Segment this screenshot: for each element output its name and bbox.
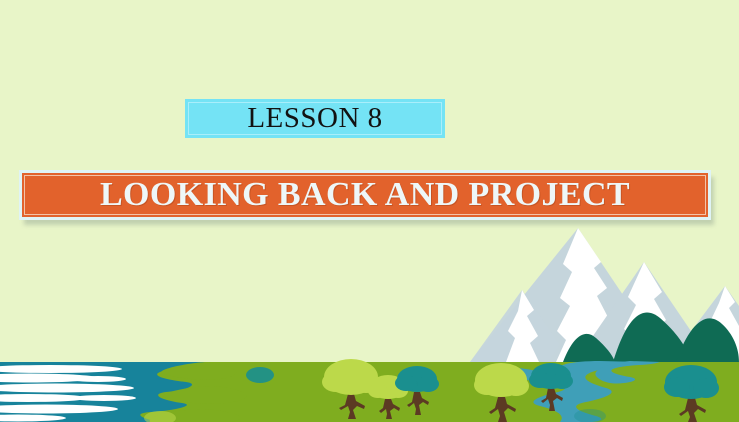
- water-body-left: [0, 362, 246, 422]
- wave-1: [0, 365, 122, 373]
- wave-8: [0, 415, 66, 422]
- dark-hill-range: [563, 312, 739, 362]
- tree-teal-3: [664, 365, 719, 422]
- wave-3: [70, 376, 126, 382]
- tree-canopy-lobe-a: [368, 384, 388, 398]
- slide-canvas: LESSON 8 LOOKING BACK AND PROJECT: [0, 0, 739, 422]
- tree-canopy: [475, 363, 527, 397]
- tree-canopy: [324, 359, 378, 395]
- tree-teal-2: [529, 363, 573, 411]
- wave-4: [0, 384, 134, 393]
- tree-canopy-lobe-b: [503, 376, 529, 396]
- wave-6: [72, 395, 136, 401]
- tree-canopy-lobe-a: [395, 375, 417, 391]
- tree-trunk: [489, 397, 516, 422]
- lesson-label-box: LESSON 8: [185, 99, 445, 138]
- tree-canopy: [665, 365, 717, 399]
- mountain-left-rock: [470, 228, 668, 362]
- bush-2: [144, 411, 176, 422]
- tree-canopy: [531, 363, 571, 389]
- water-inlet-3: [150, 409, 241, 422]
- hill-3: [563, 334, 615, 362]
- tree-trunk: [679, 398, 706, 422]
- tree-canopy-lobe-a: [664, 377, 690, 397]
- mountain-shoulder-left-snow: [506, 290, 539, 362]
- tree-group-center: [322, 359, 439, 419]
- mountain-mid-snow: [622, 262, 670, 362]
- tree-canopy-lobe-a: [474, 375, 500, 395]
- mountain-shoulder-left: [470, 290, 560, 362]
- tree-canopy-lobe-a: [322, 372, 350, 392]
- tree-trunk: [541, 388, 563, 411]
- winding-river: [498, 361, 660, 422]
- tree-trunk: [407, 392, 429, 415]
- tree-canopy: [397, 366, 437, 392]
- tree-canopy-lobe-b: [551, 373, 573, 389]
- tree-canopy-lobe-b: [388, 384, 408, 398]
- tree-group-far-right: [664, 365, 719, 422]
- mountain-left-snow: [556, 228, 618, 362]
- lesson-label-text: LESSON 8: [247, 104, 382, 133]
- green-ground: [0, 362, 739, 422]
- tree-group-right-center: [474, 363, 573, 422]
- tree-canopy-lobe-b: [352, 373, 380, 393]
- wave-2: [0, 374, 98, 383]
- tree-canopy-lobe-a: [529, 372, 551, 388]
- bush-1: [246, 367, 274, 383]
- tree-light-1: [322, 359, 380, 419]
- mountain-right-rock: [668, 286, 739, 362]
- water-waves: [0, 365, 136, 422]
- river-upper-branch: [595, 361, 660, 384]
- hill-1: [613, 312, 692, 362]
- mountain-mid-rock: [575, 262, 712, 362]
- title-banner-text: LOOKING BACK AND PROJECT: [100, 178, 630, 212]
- water-left-shape: [0, 362, 205, 422]
- title-banner: LOOKING BACK AND PROJECT: [19, 170, 711, 220]
- mountain-right-snow: [706, 286, 739, 362]
- mountain-range: [470, 228, 739, 362]
- river-small-center: [498, 367, 554, 381]
- tree-trunk: [379, 399, 400, 419]
- tree-light-3: [474, 363, 529, 422]
- tree-light-2: [368, 375, 408, 419]
- water-inlet-1: [161, 362, 236, 380]
- tree-trunk: [339, 394, 365, 419]
- river-path: [533, 361, 642, 422]
- bush-3: [574, 409, 606, 422]
- wave-7: [0, 405, 118, 414]
- wave-5: [0, 394, 88, 402]
- tree-canopy-lobe-b: [693, 378, 719, 398]
- hill-2: [676, 318, 739, 362]
- bush-group: [144, 367, 606, 422]
- water-inlet-2: [164, 386, 247, 404]
- tree-teal-1: [395, 366, 439, 415]
- tree-canopy: [370, 375, 406, 399]
- tree-canopy-lobe-b: [417, 376, 439, 392]
